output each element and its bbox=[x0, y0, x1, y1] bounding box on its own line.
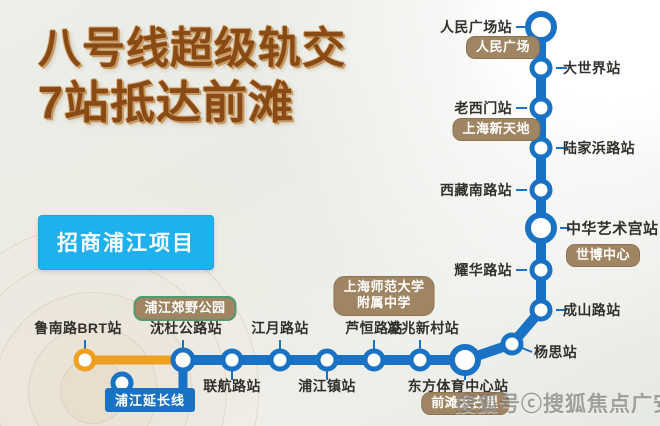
station-label-lunan-road-brt[interactable]: 鲁南路BRT站 bbox=[34, 318, 122, 338]
metro-line-diagram bbox=[0, 0, 660, 426]
station-markers bbox=[76, 14, 554, 392]
station-label-jiangyue-road[interactable]: 江月路站 bbox=[251, 318, 309, 338]
station-label-china-art-museum[interactable]: 中华艺术宫站 bbox=[566, 218, 658, 239]
extension-line-label[interactable]: 浦江延长线 bbox=[105, 388, 195, 412]
poi-badge-line-2: 附属中学 bbox=[357, 295, 411, 310]
station-label-chengshan-road[interactable]: 成山路站 bbox=[563, 300, 621, 320]
poi-badge-line-1: 上海师范大学 bbox=[343, 279, 424, 294]
poi-badge-qiantan-taikoo-li[interactable]: 前滩太古里 bbox=[421, 392, 509, 415]
poi-badge-pujiang-country-park[interactable]: 浦江郊野公园 bbox=[133, 296, 236, 321]
poi-badge-expo-center[interactable]: 世博中心 bbox=[566, 244, 640, 267]
station-label-xizang-south-road[interactable]: 西藏南路站 bbox=[440, 180, 512, 200]
metro-line-poster: 八号线超级轨交 7站抵达前滩 招商浦江项目 bbox=[0, 0, 660, 426]
poi-badge-renmin-square[interactable]: 人民广场 bbox=[466, 36, 540, 59]
station-label-yaohua-road[interactable]: 耀华路站 bbox=[454, 260, 512, 280]
station-label-renmin-square[interactable]: 人民广场站 bbox=[440, 17, 512, 37]
station-label-lujiabang-road[interactable]: 陆家浜路站 bbox=[563, 138, 635, 158]
poi-badge-shnu-affiliated-middle-school[interactable]: 上海师范大学 附属中学 bbox=[333, 276, 434, 316]
poi-badge-xintiandi[interactable]: 上海新天地 bbox=[452, 118, 540, 141]
station-label-yangsi[interactable]: 杨思站 bbox=[534, 342, 577, 362]
station-label-dashijie[interactable]: 大世界站 bbox=[563, 58, 621, 78]
station-label-lianhang-road[interactable]: 联航路站 bbox=[203, 376, 261, 396]
station-label-pujiang-town[interactable]: 浦江镇站 bbox=[298, 376, 356, 396]
station-label-luheng-road[interactable]: 芦恒路站 bbox=[345, 318, 403, 338]
station-label-laoximen[interactable]: 老西门站 bbox=[454, 98, 512, 118]
